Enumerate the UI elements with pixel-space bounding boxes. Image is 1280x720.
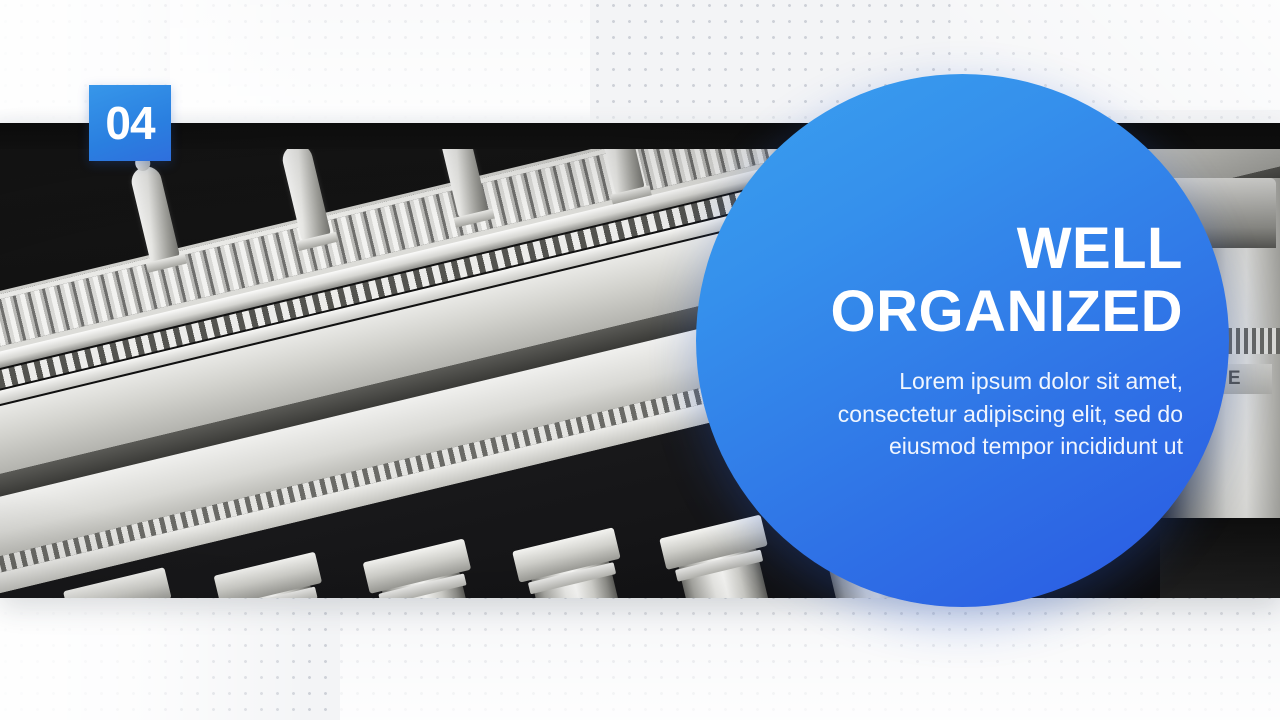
slide-number-badge: 04 <box>89 85 171 161</box>
body-paragraph: Lorem ipsum dolor sit amet, consectetur … <box>783 365 1183 463</box>
headline-line-1: WELL <box>1017 216 1183 281</box>
headline: WELL ORGANIZED <box>831 218 1184 343</box>
blue-circle-panel: WELL ORGANIZED Lorem ipsum dolor sit ame… <box>696 74 1229 607</box>
rooftop-statue <box>129 164 181 264</box>
presentation-slide: ALE 04 WELL ORGANIZED Lorem ipsum dolor … <box>0 0 1280 720</box>
monument-base <box>1160 518 1280 598</box>
headline-line-2: ORGANIZED <box>831 281 1184 344</box>
dot-fade-bottom-overlay <box>340 590 1280 720</box>
dot-fade-top-overlay <box>170 0 590 120</box>
slide-number-text: 04 <box>105 100 154 146</box>
